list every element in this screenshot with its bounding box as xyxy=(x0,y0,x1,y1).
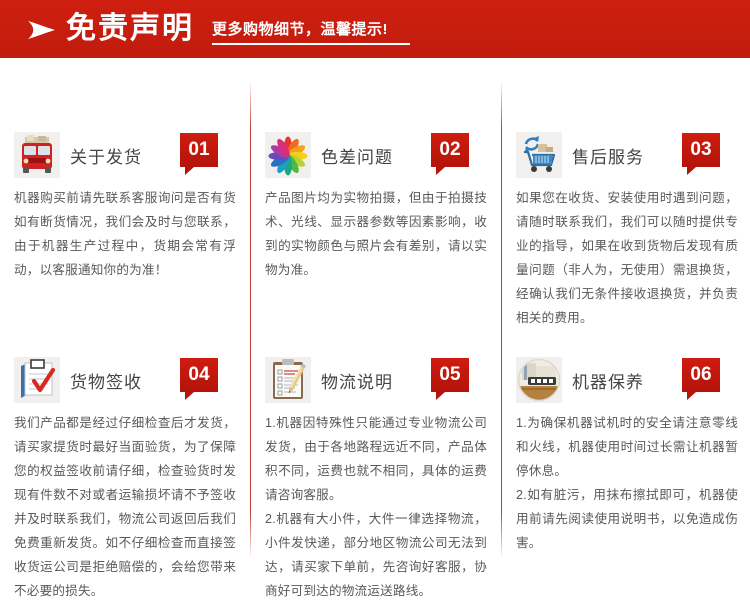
card-body: 1.为确保机器试机时的安全请注意零线和火线，机器使用时间过长需让机器暂停休息。 … xyxy=(516,411,738,555)
info-card-03: 售后服务 03 如果您在收货、安装使用时遇到问题，请随时联系我们，我们可以随时提… xyxy=(502,130,750,330)
card-number-badge: 02 xyxy=(431,133,469,167)
info-card-05: 物流说明 05 1.机器因特殊性只能通过专业物流公司发货，由于各地路程远近不同，… xyxy=(251,355,501,603)
card-paragraph: 2.机器有大小件，大件一律选择物流，小件发快递，部分地区物流公司无法到达，请买家… xyxy=(265,507,487,603)
card-header: 关于发货 01 xyxy=(14,130,236,180)
card-title: 色差问题 xyxy=(321,143,393,168)
page-title: 免责声明 xyxy=(66,12,194,46)
card-header: 售后服务 03 xyxy=(516,130,738,180)
shopping-cart-return-icon xyxy=(516,132,562,178)
arrow-right-icon xyxy=(26,19,56,41)
card-body: 我们产品都是经过仔细检查后才发货，请买家提货时最好当面验货，为了保障您的权益签收… xyxy=(14,411,236,603)
card-paragraph: 2.如有脏污，用抹布擦拭即可，机器使用前请先阅读使用说明书，以免造成伤害。 xyxy=(516,483,738,555)
card-header: 物流说明 05 xyxy=(265,355,487,405)
color-wheel-icon xyxy=(265,132,311,178)
delivery-truck-icon xyxy=(14,132,60,178)
card-header: 货物签收 04 xyxy=(14,355,236,405)
card-paragraph: 产品图片均为实物拍摄，但由于拍摄技术、光线、显示器参数等因素影响，收到的实物颜色… xyxy=(265,186,487,282)
info-card-grid: 关于发货 01 机器购买前请先联系客服询问是否有货如有断货情况，我们会及时与您联… xyxy=(0,58,750,588)
card-header: 机器保养 06 xyxy=(516,355,738,405)
clipboard-pencil-icon xyxy=(265,357,311,403)
card-title: 货物签收 xyxy=(70,368,142,393)
card-body: 产品图片均为实物拍摄，但由于拍摄技术、光线、显示器参数等因素影响，收到的实物颜色… xyxy=(265,186,487,282)
card-paragraph: 1.机器因特殊性只能通过专业物流公司发货，由于各地路程远近不同，产品体积不同，运… xyxy=(265,411,487,507)
info-card-04: 货物签收 04 我们产品都是经过仔细检查后才发货，请买家提货时最好当面验货，为了… xyxy=(0,355,250,603)
card-number-badge: 06 xyxy=(682,358,720,392)
card-title: 关于发货 xyxy=(70,143,142,168)
banner-subtitle: 更多购物细节，温馨提示! xyxy=(212,18,410,43)
card-number-badge: 04 xyxy=(180,358,218,392)
subtitle-underline xyxy=(212,43,410,45)
banner-content: 免责声明 更多购物细节，温馨提示! xyxy=(26,0,410,58)
card-title: 机器保养 xyxy=(572,368,644,393)
info-card-01: 关于发货 01 机器购买前请先联系客服询问是否有货如有断货情况，我们会及时与您联… xyxy=(0,130,250,282)
card-body: 机器购买前请先联系客服询问是否有货如有断货情况，我们会及时与您联系，由于机器生产… xyxy=(14,186,236,282)
card-number-badge: 01 xyxy=(180,133,218,167)
info-card-06: 机器保养 06 1.为确保机器试机时的安全请注意零线和火线，机器使用时间过长需让… xyxy=(502,355,750,555)
card-body: 1.机器因特殊性只能通过专业物流公司发货，由于各地路程远近不同，产品体积不同，运… xyxy=(265,411,487,603)
card-title: 物流说明 xyxy=(321,368,393,393)
machine-photo-icon xyxy=(516,357,562,403)
clipboard-check-icon xyxy=(14,357,60,403)
card-number-badge: 03 xyxy=(682,133,720,167)
card-header: 色差问题 02 xyxy=(265,130,487,180)
card-number-badge: 05 xyxy=(431,358,469,392)
card-paragraph: 1.为确保机器试机时的安全请注意零线和火线，机器使用时间过长需让机器暂停休息。 xyxy=(516,411,738,483)
info-card-02: 色差问题 02 产品图片均为实物拍摄，但由于拍摄技术、光线、显示器参数等因素影响… xyxy=(251,130,501,282)
disclaimer-page: 免责声明 更多购物细节，温馨提示! xyxy=(0,0,750,588)
card-paragraph: 如果您在收货、安装使用时遇到问题，请随时联系我们，我们可以随时提供专业的指导，如… xyxy=(516,186,738,330)
card-paragraph: 机器购买前请先联系客服询问是否有货如有断货情况，我们会及时与您联系，由于机器生产… xyxy=(14,186,236,282)
card-title: 售后服务 xyxy=(572,143,644,168)
disclaimer-banner: 免责声明 更多购物细节，温馨提示! xyxy=(0,0,750,58)
banner-subtitle-wrap: 更多购物细节，温馨提示! xyxy=(212,18,410,45)
card-body: 如果您在收货、安装使用时遇到问题，请随时联系我们，我们可以随时提供专业的指导，如… xyxy=(516,186,738,330)
card-paragraph: 我们产品都是经过仔细检查后才发货，请买家提货时最好当面验货，为了保障您的权益签收… xyxy=(14,411,236,603)
